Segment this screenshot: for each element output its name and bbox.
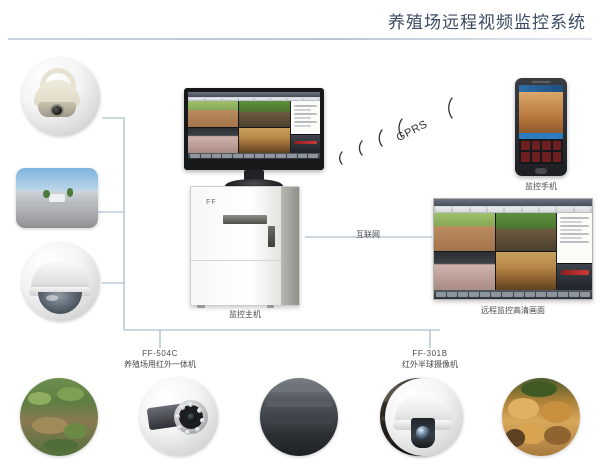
remote-toolbar[interactable] [434,290,592,299]
remote-nvr-ui [434,199,592,299]
gallery-item-ir-bullet-camera[interactable] [140,378,218,456]
phone-app-titlebar [519,85,563,92]
wireless-signal-arcs [330,92,460,182]
remote-tile[interactable] [434,252,495,290]
nvr-device-tree[interactable] [291,101,320,134]
remote-tile[interactable] [496,213,557,251]
nvr-tile[interactable] [188,128,238,153]
phone-screen [519,85,563,164]
nvr-toolbar[interactable] [188,153,320,159]
label-monitoring-host: 监控主机 [200,309,290,320]
label-monitoring-phone: 监控手机 [501,181,581,192]
remote-sidebar [556,213,592,290]
remote-menubar [434,206,592,213]
tower-control-panel [268,226,276,247]
nvr-tile[interactable] [239,101,289,126]
tower-seam [191,260,281,261]
pasture-photo [20,378,98,456]
diagram-canvas: 养殖场远程视频监控系统 [0,0,600,469]
gallery-item-barn-interior[interactable] [260,378,338,456]
node-remote-monitor[interactable] [433,198,593,300]
dome-camera-icon [22,243,100,321]
phone-control-keys[interactable] [519,139,563,164]
node-farm-photo[interactable] [16,168,98,228]
product-code: FF-504C [110,348,210,359]
label-remote-monitor: 远程监控高清画面 [453,305,573,316]
gallery-item-ir-dome-camera[interactable] [385,378,463,456]
gallery-item-pasture[interactable] [20,378,98,456]
phone-speaker [532,81,551,83]
remote-titlebar [434,199,592,206]
nvr-tile[interactable] [239,128,289,153]
header-divider [8,38,592,40]
remote-tile-grid [434,213,556,290]
remote-tile[interactable] [434,213,495,251]
label-product-ff301b: FF-301B 红外半球摄像机 [380,348,480,370]
node-monitor[interactable] [184,88,324,170]
nvr-sidebar [290,101,320,153]
product-name: 红外半球摄像机 [380,359,480,370]
barn-interior-photo [260,378,338,456]
tower-brand-logo: FF [206,199,217,206]
label-internet: 互联网 [333,229,403,240]
phone-video-feed[interactable] [519,92,563,133]
gallery-item-poultry[interactable] [502,378,580,456]
product-code: FF-301B [380,348,480,359]
nvr-tile-grid [188,101,290,153]
page-title: 养殖场远程视频监控系统 [388,8,586,33]
tower-drive-slot [223,215,266,223]
product-name: 养殖场用红外一体机 [110,359,210,370]
ptz-dome-camera-icon [22,58,100,136]
node-dome-camera[interactable] [22,243,100,321]
node-monitoring-phone[interactable] [515,78,567,176]
ir-bullet-camera-icon [140,378,218,456]
node-monitoring-host[interactable]: FF [190,186,300,306]
ir-dome-camera-icon [385,378,463,456]
phone-home-button[interactable] [535,168,547,174]
nvr-software-ui [188,92,320,159]
nvr-tile[interactable] [188,101,238,126]
tower-side-panel [281,187,299,305]
remote-ptz-pad[interactable] [557,263,592,290]
node-ptz-camera[interactable] [22,58,100,136]
poultry-photo [502,378,580,456]
tower-foot [197,305,205,308]
remote-tile[interactable] [496,252,557,290]
remote-device-tree[interactable] [557,213,592,263]
label-gprs: GPRS [395,118,430,144]
nvr-ptz-pad[interactable] [291,134,320,153]
tower-foot [267,305,275,308]
label-product-ff504c: FF-504C 养殖场用红外一体机 [110,348,210,370]
monitor-screen [188,92,320,159]
